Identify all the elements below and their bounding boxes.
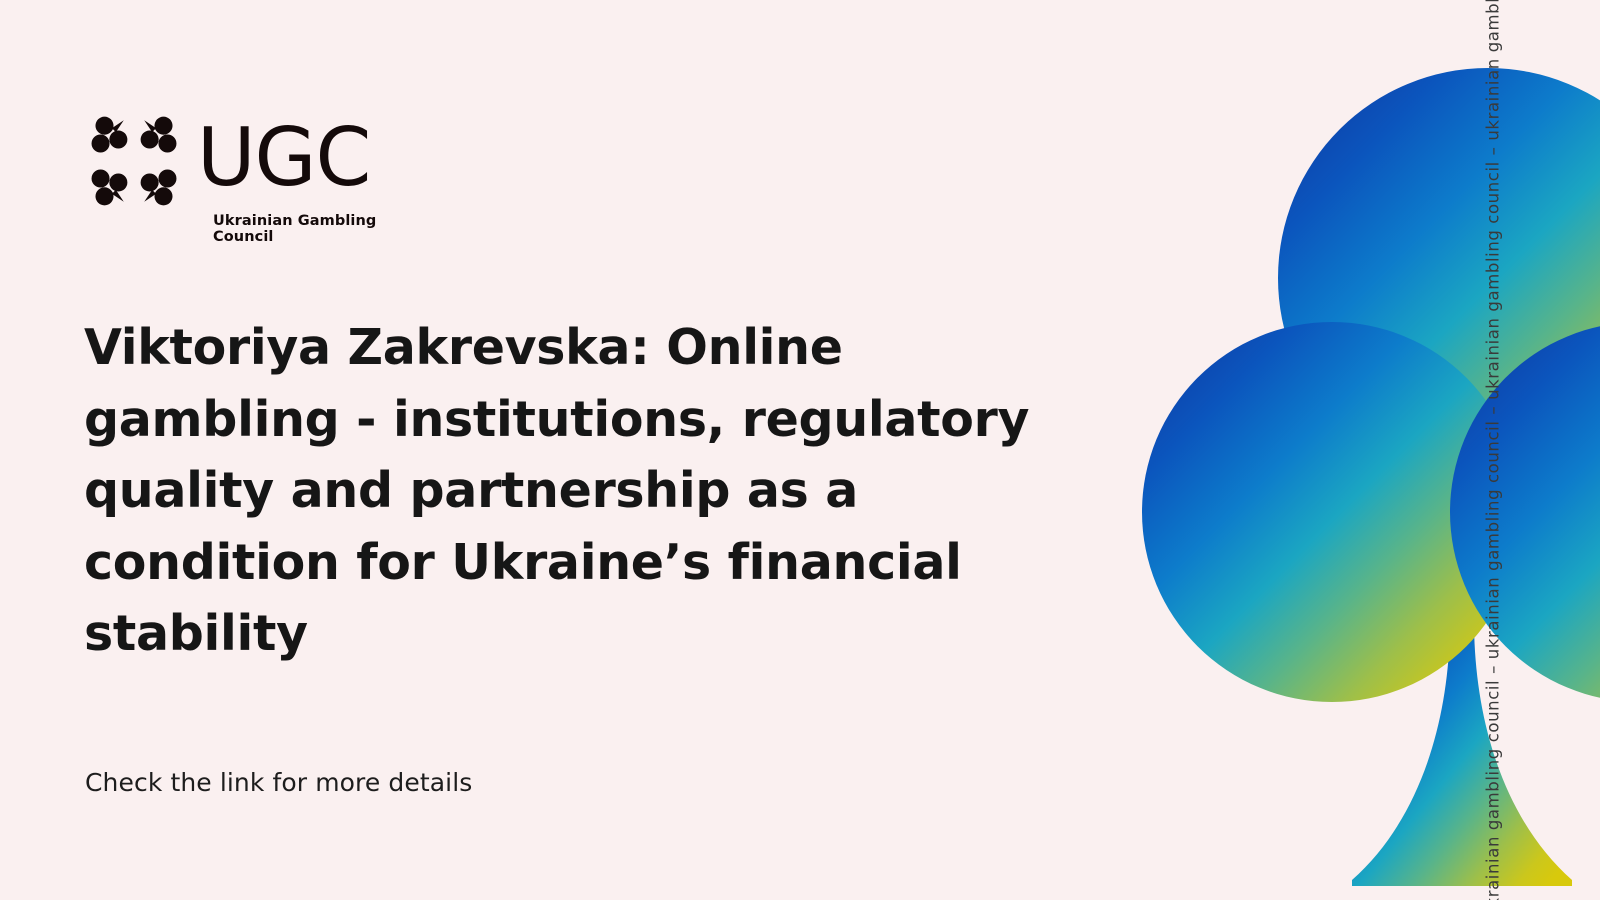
four-clubs-icon: [85, 112, 183, 210]
vertical-brand-text: ukrainian gambling council – ukrainian g…: [1486, 0, 1503, 900]
page-title: Viktoriya Zakrevska: Online gambling - i…: [84, 312, 1114, 670]
slide-canvas: ukrainian gambling council – ukrainian g…: [0, 0, 1600, 900]
club-suit-artwork: [1120, 60, 1600, 890]
logo-wordmark: UGC: [197, 121, 370, 195]
logo-row: UGC: [85, 112, 415, 210]
ugc-logo[interactable]: UGC Ukrainian Gambling Council: [85, 112, 415, 245]
vertical-brand-strip: ukrainian gambling council – ukrainian g…: [1478, 0, 1508, 900]
call-to-action-text: Check the link for more details: [85, 768, 472, 797]
logo-subtitle: Ukrainian Gambling Council: [213, 213, 415, 245]
